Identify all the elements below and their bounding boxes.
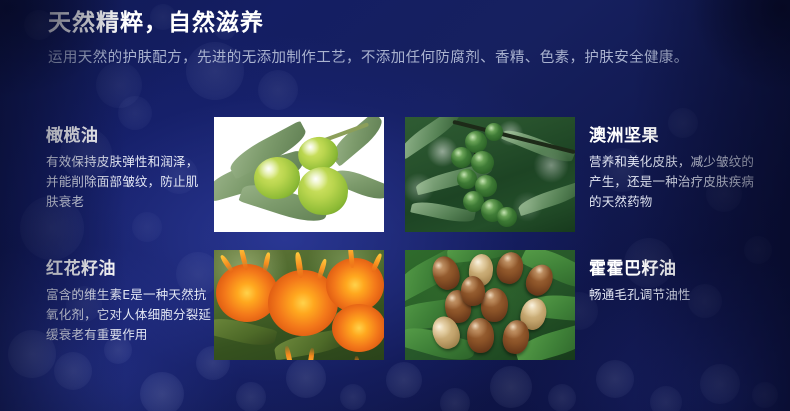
- feature-photo-jojoba: [405, 250, 575, 360]
- bokeh-circle: [650, 386, 682, 411]
- jojoba-seed: [466, 318, 494, 354]
- feature-block-olive: 橄榄油 有效保持皮肤弹性和润泽，并能削除面部皱纹，防止肌肤衰老: [46, 126, 206, 212]
- macadamia-photo-scene: [405, 117, 575, 232]
- feature-title-jojoba: 霍霍巴籽油: [589, 259, 761, 279]
- safflower-spike: [354, 356, 360, 360]
- bokeh-circle: [132, 212, 162, 242]
- feature-block-safflower: 红花籽油 富含的维生素E是一种天然抗氧化剂，它对人体细胞分裂延缓衰老有重要作用: [46, 259, 212, 345]
- bokeh-circle: [440, 388, 470, 411]
- bokeh-circle: [96, 62, 142, 108]
- olive-photo-scene: [214, 117, 384, 232]
- bokeh-circle: [118, 96, 152, 130]
- bokeh-circle: [386, 362, 422, 398]
- feature-block-macadamia: 澳洲坚果 营养和美化皮肤，减少皱纹的产生，还是一种治疗皮肤疾病的天然药物: [589, 126, 761, 212]
- feature-title-macadamia: 澳洲坚果: [589, 126, 761, 146]
- safflower-photo-scene: [214, 250, 384, 360]
- feature-title-olive: 橄榄油: [46, 126, 206, 146]
- bokeh-circle: [340, 384, 366, 410]
- page-title: 天然精粹，自然滋养: [48, 8, 758, 38]
- bokeh-circle: [596, 360, 634, 398]
- macadamia-nut: [497, 207, 517, 227]
- feature-description-safflower: 富含的维生素E是一种天然抗氧化剂，它对人体细胞分裂延缓衰老有重要作用: [46, 285, 212, 345]
- feature-description-macadamia: 营养和美化皮肤，减少皱纹的产生，还是一种治疗皮肤疾病的天然药物: [589, 152, 761, 212]
- bokeh-circle: [700, 364, 740, 404]
- macadamia-nut: [471, 151, 494, 174]
- jojoba-photo-scene: [405, 250, 575, 360]
- feature-photo-olive: [214, 117, 384, 232]
- page-subtitle: 运用天然的护肤配方，先进的无添加制作工艺，不添加任何防腐剂、香精、色素，护肤安全…: [48, 48, 758, 68]
- safflower-flower: [332, 304, 384, 352]
- feature-description-olive: 有效保持皮肤弹性和润泽，并能削除面部皱纹，防止肌肤衰老: [46, 152, 206, 212]
- bokeh-circle: [54, 352, 92, 390]
- feature-title-safflower: 红花籽油: [46, 259, 212, 279]
- feature-photo-macadamia: [405, 117, 575, 232]
- promo-banner: 天然精粹，自然滋养 运用天然的护肤配方，先进的无添加制作工艺，不添加任何防腐剂、…: [0, 0, 790, 411]
- safflower-spike: [262, 252, 271, 273]
- macadamia-leaf: [516, 181, 575, 216]
- macadamia-nut: [485, 123, 503, 141]
- bokeh-circle: [236, 382, 266, 411]
- macadamia-nut: [451, 147, 472, 168]
- macadamia-leaf: [501, 126, 575, 167]
- bokeh-circle: [752, 382, 778, 408]
- bokeh-circle: [490, 366, 532, 408]
- bokeh-circle: [548, 384, 576, 411]
- feature-description-jojoba: 畅通毛孔调节油性: [589, 285, 761, 305]
- feature-block-jojoba: 霍霍巴籽油 畅通毛孔调节油性: [589, 259, 761, 305]
- bokeh-circle: [286, 358, 326, 398]
- feature-photo-safflower: [214, 250, 384, 360]
- banner-header: 天然精粹，自然滋养 运用天然的护肤配方，先进的无添加制作工艺，不添加任何防腐剂、…: [48, 8, 758, 68]
- macadamia-nut: [457, 169, 477, 189]
- bokeh-circle: [258, 70, 298, 110]
- bokeh-circle: [140, 372, 184, 411]
